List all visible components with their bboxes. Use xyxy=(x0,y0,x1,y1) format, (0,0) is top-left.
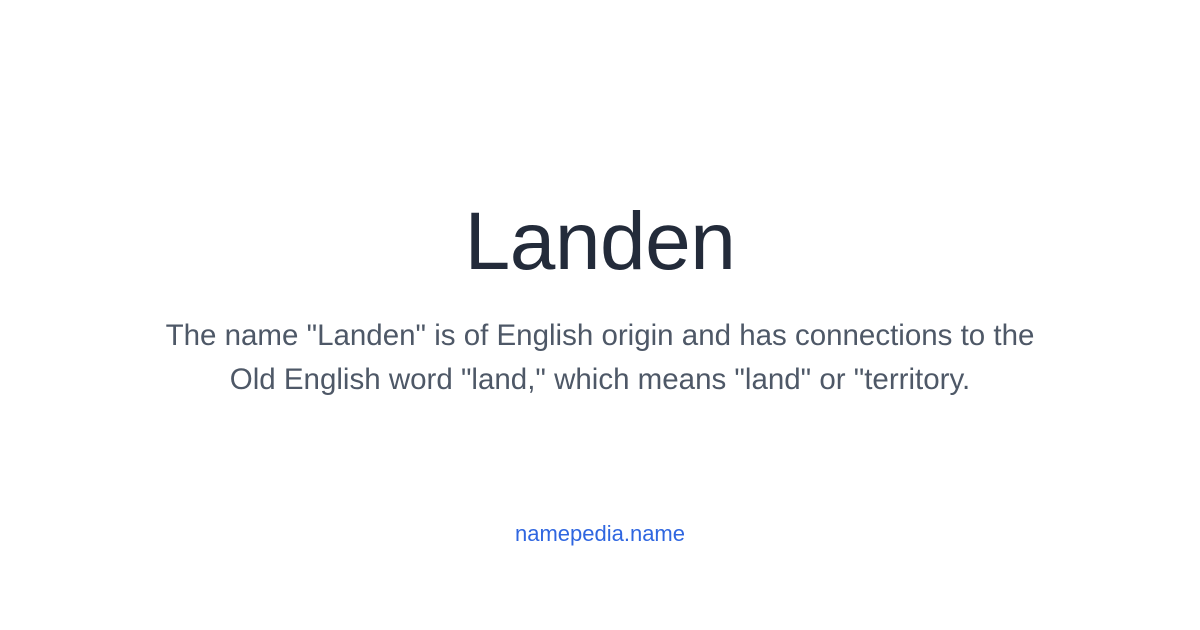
page-title: Landen xyxy=(0,196,1200,288)
og-preview-card: Landen The name "Landen" is of English o… xyxy=(0,0,1200,630)
name-description: The name "Landen" is of English origin a… xyxy=(140,314,1060,402)
site-link[interactable]: namepedia.name xyxy=(0,520,1200,548)
